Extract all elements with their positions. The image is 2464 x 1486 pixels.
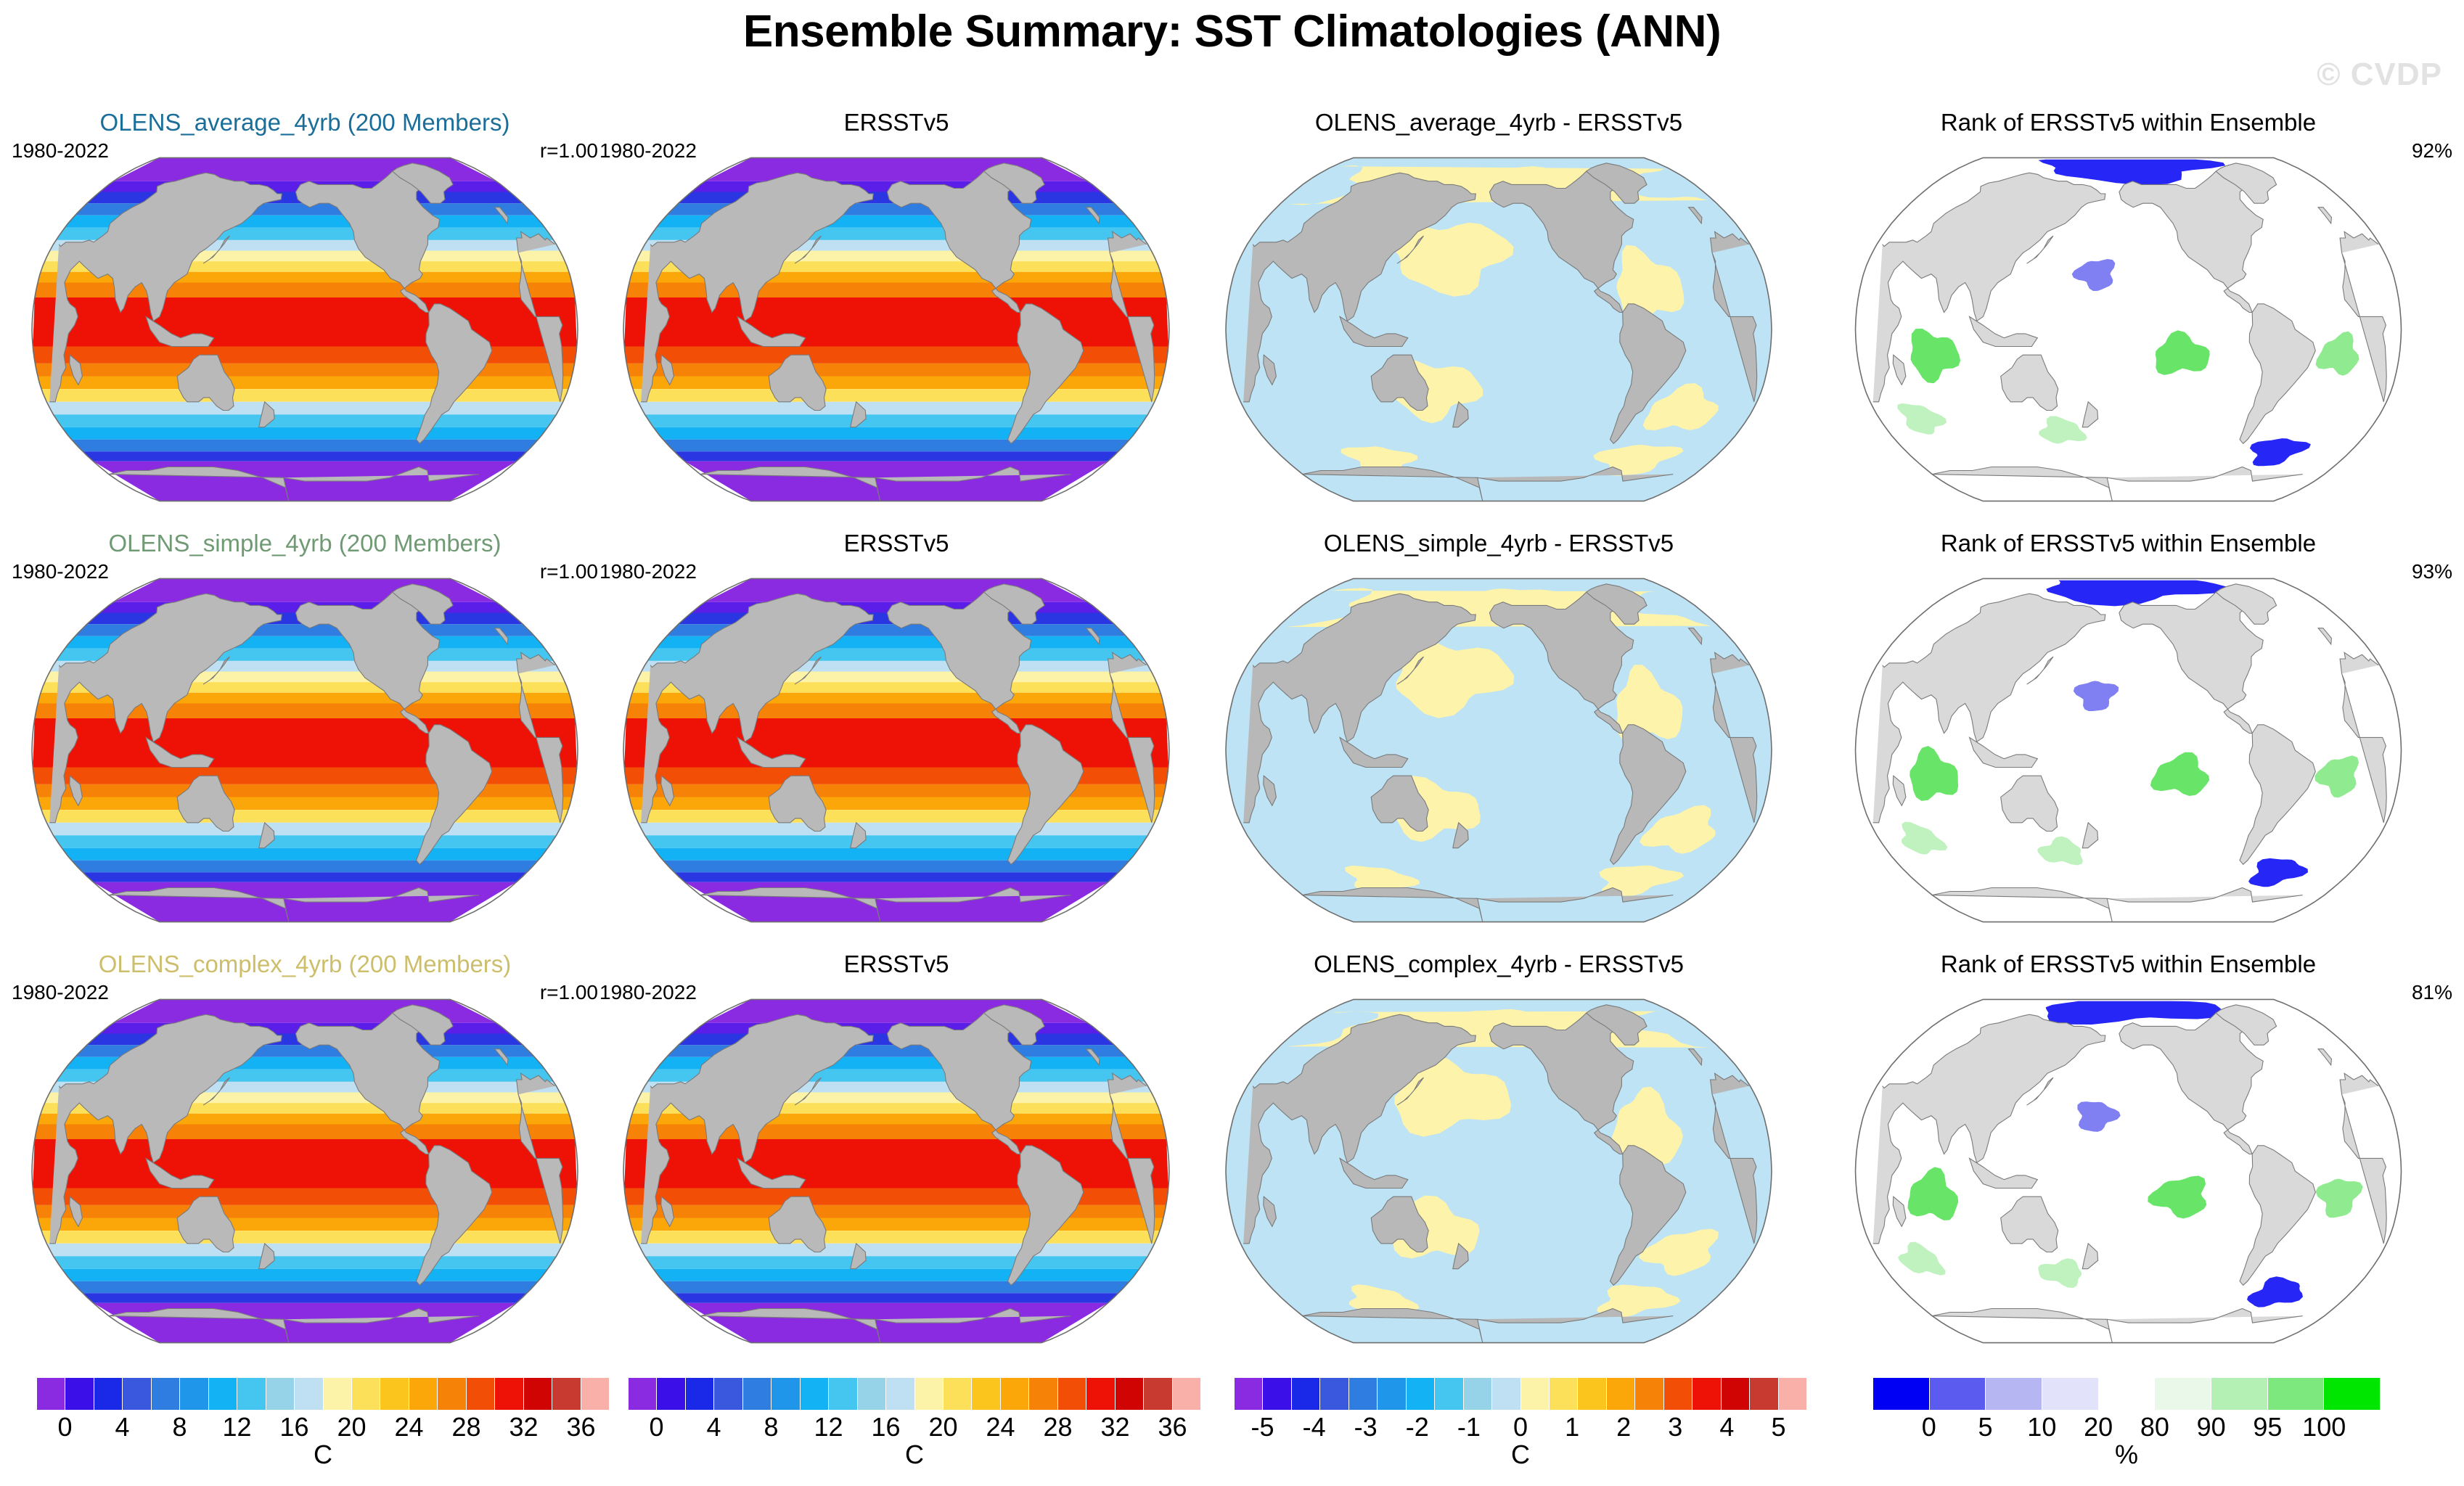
colorbar-swatch xyxy=(1235,1378,1263,1410)
colorbar-swatch xyxy=(771,1378,800,1410)
map-canvas-rank xyxy=(1800,978,2457,1355)
colorbar-swatch xyxy=(714,1378,742,1410)
globe-map-sst xyxy=(595,136,1198,514)
colorbar-swatch xyxy=(1001,1378,1029,1410)
colorbar-tick-label: 20 xyxy=(337,1412,366,1442)
colorbar-swatch xyxy=(1521,1378,1550,1410)
colorbar-tick-label: 12 xyxy=(814,1412,843,1442)
colorbar-ticks-rank: 051020809095100 xyxy=(1872,1411,2381,1442)
colorbar-ticks-sst2: 04812162024283236 xyxy=(628,1411,1201,1442)
panel-title-rank: Rank of ERSSTv5 within Ensemble xyxy=(1800,109,2457,136)
colorbar-unit-sst: C xyxy=(36,1440,610,1470)
panel-title-obs: ERSSTv5 xyxy=(595,109,1198,136)
panel-r2-obs: ERSSTv51980-2022 xyxy=(595,530,1198,951)
colorbar-swatch xyxy=(1349,1378,1378,1410)
colorbar-swatch xyxy=(467,1378,495,1410)
colorbar-swatch xyxy=(94,1378,123,1410)
map-canvas-model xyxy=(7,978,602,1355)
colorbar-swatch xyxy=(686,1378,714,1410)
colorbar-unit-sst2: C xyxy=(628,1440,1201,1470)
colorbar-swatch xyxy=(801,1378,829,1410)
colorbar-tick-label: 95 xyxy=(2253,1412,2282,1442)
colorbar-swatch xyxy=(1464,1378,1492,1410)
panel-title-difference: OLENS_average_4yrb - ERSSTv5 xyxy=(1194,109,1804,136)
panel-r1-difference: OLENS_average_4yrb - ERSSTv5 xyxy=(1194,109,1804,530)
figure-root: Ensemble Summary: SST Climatologies (ANN… xyxy=(0,0,2464,1486)
colorbar-tick-label: 0 xyxy=(649,1412,663,1442)
colorbar-swatch xyxy=(495,1378,523,1410)
panel-title-model: OLENS_average_4yrb (200 Members) xyxy=(7,109,602,136)
colorbar-tick-label: 24 xyxy=(394,1412,423,1442)
colorbar-swatch xyxy=(2211,1378,2268,1410)
colorbar-swatch xyxy=(1750,1378,1778,1410)
colorbar-strip-difference xyxy=(1234,1377,1807,1411)
colorbar-swatch xyxy=(2268,1378,2325,1410)
map-canvas-difference xyxy=(1194,136,1804,514)
colorbar-swatch xyxy=(1116,1378,1144,1410)
colorbar-swatch xyxy=(1263,1378,1291,1410)
colorbar-swatch xyxy=(1986,1378,2042,1410)
panel-title-difference: OLENS_simple_4yrb - ERSSTv5 xyxy=(1194,530,1804,557)
colorbar-swatch xyxy=(2042,1378,2099,1410)
colorbar-tick-label: 1 xyxy=(1565,1412,1579,1442)
panel-title-rank: Rank of ERSSTv5 within Ensemble xyxy=(1800,951,2457,978)
colorbar-swatch xyxy=(1407,1378,1435,1410)
colorbar-swatch xyxy=(1693,1378,1721,1410)
colorbar-tick-label: -5 xyxy=(1251,1412,1274,1442)
colorbar-unit-label: C xyxy=(905,1440,924,1470)
panel-r3-model: OLENS_complex_4yrb (200 Members)1980-202… xyxy=(7,951,602,1371)
colorbar-swatch xyxy=(2324,1378,2380,1410)
colorbar-swatch xyxy=(152,1378,180,1410)
colorbar-swatch xyxy=(1779,1378,1806,1410)
colorbar-swatch xyxy=(2099,1378,2156,1410)
page-title: Ensemble Summary: SST Climatologies (ANN… xyxy=(0,6,2464,57)
globe-map-diff xyxy=(1194,557,1804,935)
globe-map-sst xyxy=(7,978,602,1355)
colorbar-swatch xyxy=(1550,1378,1578,1410)
colorbar-swatch xyxy=(180,1378,208,1410)
colorbar-ticks-sst: 04812162024283236 xyxy=(36,1411,610,1442)
globe-map-sst xyxy=(595,557,1198,935)
panel-r1-rank: Rank of ERSSTv5 within Ensemble92% xyxy=(1800,109,2457,530)
colorbar-tick-label: 10 xyxy=(2027,1412,2056,1442)
colorbar-swatch xyxy=(1492,1378,1520,1410)
colorbar-tick-label: -2 xyxy=(1406,1412,1429,1442)
colorbar-unit-label: C xyxy=(1511,1440,1530,1470)
colorbar-swatch xyxy=(65,1378,94,1410)
colorbar-swatch xyxy=(944,1378,972,1410)
panel-title-model: OLENS_complex_4yrb (200 Members) xyxy=(7,951,602,978)
colorbar-swatch xyxy=(37,1378,65,1410)
colorbar-swatch xyxy=(1930,1378,1986,1410)
panel-r3-obs: ERSSTv51980-2022 xyxy=(595,951,1198,1371)
panel-r3-difference: OLENS_complex_4yrb - ERSSTv5 xyxy=(1194,951,1804,1371)
globe-map-diff xyxy=(1194,136,1804,514)
colorbar-swatch xyxy=(1029,1378,1057,1410)
globe-map-sst xyxy=(7,557,602,935)
map-canvas-obs xyxy=(595,978,1198,1355)
colorbar-sst2: 04812162024283236C xyxy=(628,1377,1201,1470)
colorbar-tick-label: 5 xyxy=(1978,1412,1993,1442)
colorbar-tick-label: 24 xyxy=(986,1412,1015,1442)
colorbar-tick-label: 12 xyxy=(222,1412,251,1442)
panel-r2-rank: Rank of ERSSTv5 within Ensemble93% xyxy=(1800,530,2457,951)
map-canvas-model xyxy=(7,557,602,935)
colorbar-swatch xyxy=(1664,1378,1693,1410)
colorbar-strip-sst xyxy=(36,1377,610,1411)
globe-map-sst xyxy=(7,136,602,514)
colorbar-swatch xyxy=(123,1378,151,1410)
colorbar-swatch xyxy=(409,1378,438,1410)
colorbar-tick-label: 20 xyxy=(2084,1412,2113,1442)
colorbar-swatch xyxy=(352,1378,380,1410)
colorbar-swatch xyxy=(915,1378,944,1410)
map-canvas-rank xyxy=(1800,557,2457,935)
colorbar-swatch xyxy=(524,1378,552,1410)
colorbar-swatch xyxy=(1635,1378,1663,1410)
panel-title-difference: OLENS_complex_4yrb - ERSSTv5 xyxy=(1194,951,1804,978)
colorbar-difference: -5-4-3-2-1012345C xyxy=(1234,1377,1807,1470)
colorbar-tick-label: 32 xyxy=(1100,1412,1129,1442)
colorbar-swatch xyxy=(324,1378,352,1410)
globe-map-rank xyxy=(1800,978,2457,1355)
colorbar-swatch xyxy=(886,1378,914,1410)
panel-r3-rank: Rank of ERSSTv5 within Ensemble81% xyxy=(1800,951,2457,1371)
colorbar-swatch xyxy=(237,1378,266,1410)
panel-title-model: OLENS_simple_4yrb (200 Members) xyxy=(7,530,602,557)
map-canvas-obs xyxy=(595,136,1198,514)
colorbar-strip-sst2 xyxy=(628,1377,1201,1411)
colorbar-swatch xyxy=(295,1378,323,1410)
colorbar-swatch xyxy=(2155,1378,2211,1410)
colorbar-tick-label: 80 xyxy=(2140,1412,2169,1442)
colorbar-swatch xyxy=(1320,1378,1348,1410)
colorbar-tick-label: 3 xyxy=(1668,1412,1682,1442)
colorbar-swatch xyxy=(438,1378,466,1410)
colorbar-unit-label: C xyxy=(314,1440,332,1470)
colorbar-tick-label: 5 xyxy=(1771,1412,1785,1442)
panel-r1-obs: ERSSTv51980-2022 xyxy=(595,109,1198,530)
panel-title-obs: ERSSTv5 xyxy=(595,951,1198,978)
panel-title-obs: ERSSTv5 xyxy=(595,530,1198,557)
colorbar-tick-label: 90 xyxy=(2197,1412,2226,1442)
colorbar-swatch xyxy=(1873,1378,1930,1410)
colorbar-swatch xyxy=(629,1378,657,1410)
map-canvas-model xyxy=(7,136,602,514)
colorbar-swatch xyxy=(1378,1378,1406,1410)
colorbar-swatch xyxy=(266,1378,295,1410)
colorbar-tick-label: 36 xyxy=(1158,1412,1187,1442)
colorbar-rank: 051020809095100% xyxy=(1872,1377,2381,1470)
colorbar-swatch xyxy=(858,1378,886,1410)
map-canvas-difference xyxy=(1194,978,1804,1355)
cvdp-watermark: © CVDP xyxy=(2317,57,2442,93)
colorbar-tick-label: 0 xyxy=(1513,1412,1528,1442)
colorbar-swatch xyxy=(1292,1378,1320,1410)
colorbar-tick-label: 4 xyxy=(706,1412,721,1442)
colorbar-tick-label: 16 xyxy=(279,1412,308,1442)
colorbar-swatch xyxy=(1144,1378,1172,1410)
colorbar-swatch xyxy=(657,1378,685,1410)
colorbar-swatch xyxy=(581,1378,609,1410)
colorbar-swatch xyxy=(972,1378,1000,1410)
colorbar-tick-label: 0 xyxy=(1922,1412,1936,1442)
colorbar-tick-label: 8 xyxy=(764,1412,778,1442)
map-canvas-difference xyxy=(1194,557,1804,935)
colorbar-tick-label: 28 xyxy=(1043,1412,1072,1442)
colorbar-tick-label: 100 xyxy=(2302,1412,2346,1442)
panel-title-rank: Rank of ERSSTv5 within Ensemble xyxy=(1800,530,2457,557)
colorbar-swatch xyxy=(829,1378,857,1410)
colorbar-swatch xyxy=(1722,1378,1750,1410)
colorbar-tick-label: 8 xyxy=(172,1412,187,1442)
colorbar-tick-label: 20 xyxy=(928,1412,957,1442)
globe-map-rank xyxy=(1800,136,2457,514)
colorbar-sst: 04812162024283236C xyxy=(36,1377,610,1470)
colorbar-tick-label: 4 xyxy=(115,1412,129,1442)
colorbar-tick-label: -1 xyxy=(1457,1412,1481,1442)
colorbar-strip-rank xyxy=(1872,1377,2381,1411)
colorbar-tick-label: 16 xyxy=(871,1412,900,1442)
colorbar-tick-label: 2 xyxy=(1616,1412,1631,1442)
colorbar-unit-label: % xyxy=(2115,1440,2138,1470)
globe-map-diff xyxy=(1194,978,1804,1355)
colorbar-swatch xyxy=(209,1378,237,1410)
panel-r2-model: OLENS_simple_4yrb (200 Members)1980-2022… xyxy=(7,530,602,951)
globe-map-rank xyxy=(1800,557,2457,935)
colorbar-ticks-difference: -5-4-3-2-1012345 xyxy=(1234,1411,1807,1442)
map-canvas-rank xyxy=(1800,136,2457,514)
colorbar-unit-rank: % xyxy=(1872,1440,2381,1470)
map-canvas-obs xyxy=(595,557,1198,935)
colorbar-swatch xyxy=(1058,1378,1086,1410)
colorbar-swatch xyxy=(380,1378,409,1410)
colorbar-swatch xyxy=(1086,1378,1115,1410)
panel-r1-model: OLENS_average_4yrb (200 Members)1980-202… xyxy=(7,109,602,530)
colorbar-swatch xyxy=(1578,1378,1606,1410)
colorbar-tick-label: -4 xyxy=(1303,1412,1326,1442)
colorbar-unit-difference: C xyxy=(1234,1440,1807,1470)
colorbar-swatch xyxy=(1173,1378,1200,1410)
colorbar-swatch xyxy=(1435,1378,1463,1410)
colorbar-tick-label: -3 xyxy=(1354,1412,1378,1442)
colorbar-tick-label: 0 xyxy=(57,1412,72,1442)
colorbar-swatch xyxy=(552,1378,581,1410)
panel-r2-difference: OLENS_simple_4yrb - ERSSTv5 xyxy=(1194,530,1804,951)
colorbar-swatch xyxy=(1607,1378,1635,1410)
colorbar-tick-label: 4 xyxy=(1719,1412,1734,1442)
globe-map-sst xyxy=(595,978,1198,1355)
colorbar-tick-label: 28 xyxy=(451,1412,480,1442)
colorbar-swatch xyxy=(743,1378,771,1410)
colorbar-tick-label: 32 xyxy=(509,1412,538,1442)
colorbar-tick-label: 36 xyxy=(566,1412,595,1442)
